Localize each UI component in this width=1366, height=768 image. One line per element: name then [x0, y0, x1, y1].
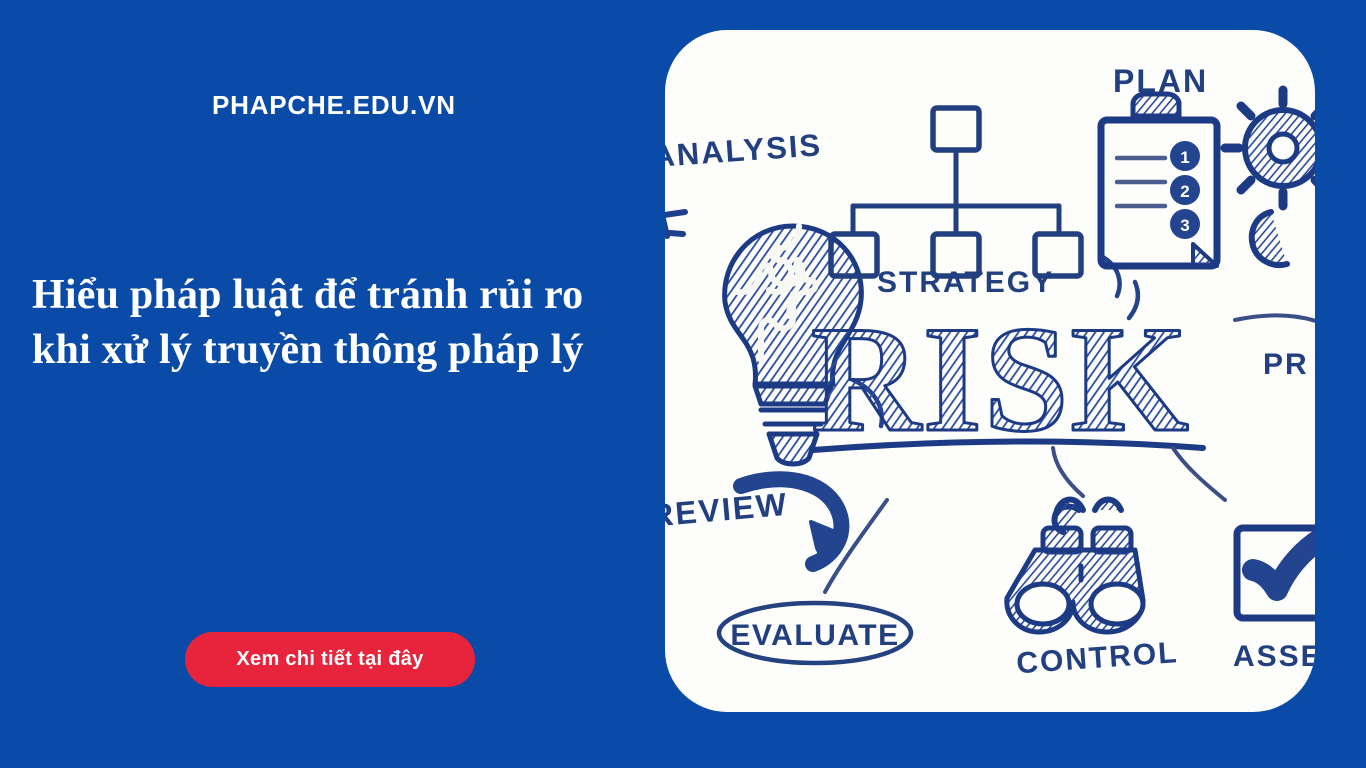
svg-text:CONTROL: CONTROL [1015, 636, 1179, 680]
svg-text:1: 1 [1180, 148, 1189, 167]
site-logo: PHAPCHE.EDU.VN [212, 90, 456, 121]
left-content-column: PHAPCHE.EDU.VN Hiểu pháp luật để tránh r… [0, 0, 665, 768]
page-title: Hiểu pháp luật để tránh rủi ro khi xử lý… [32, 268, 652, 378]
cta-view-details-button[interactable]: Xem chi tiết tại đây [185, 632, 475, 687]
cta-label: Xem chi tiết tại đây [236, 648, 423, 671]
svg-text:ANALYSIS: ANALYSIS [665, 127, 823, 174]
svg-text:EVALUATE: EVALUATE [730, 619, 899, 652]
risk-illustration-card: ANALYSIS [665, 30, 1315, 712]
promo-banner: PHAPCHE.EDU.VN Hiểu pháp luật để tránh r… [0, 0, 1366, 768]
svg-text:REVIEW: REVIEW [665, 486, 790, 534]
svg-text:RISK: RISK [811, 295, 1191, 463]
headline-line-1: Hiểu pháp luật để tránh rủi ro [32, 268, 652, 323]
headline-line-2: khi xử lý truyền thông pháp lý [32, 323, 652, 378]
svg-text:PR: PR [1263, 348, 1309, 381]
risk-sketch-illustration: ANALYSIS [665, 30, 1315, 712]
svg-text:2: 2 [1180, 182, 1189, 201]
svg-text:3: 3 [1180, 216, 1189, 235]
svg-text:ASSESS: ASSESS [1233, 640, 1315, 673]
